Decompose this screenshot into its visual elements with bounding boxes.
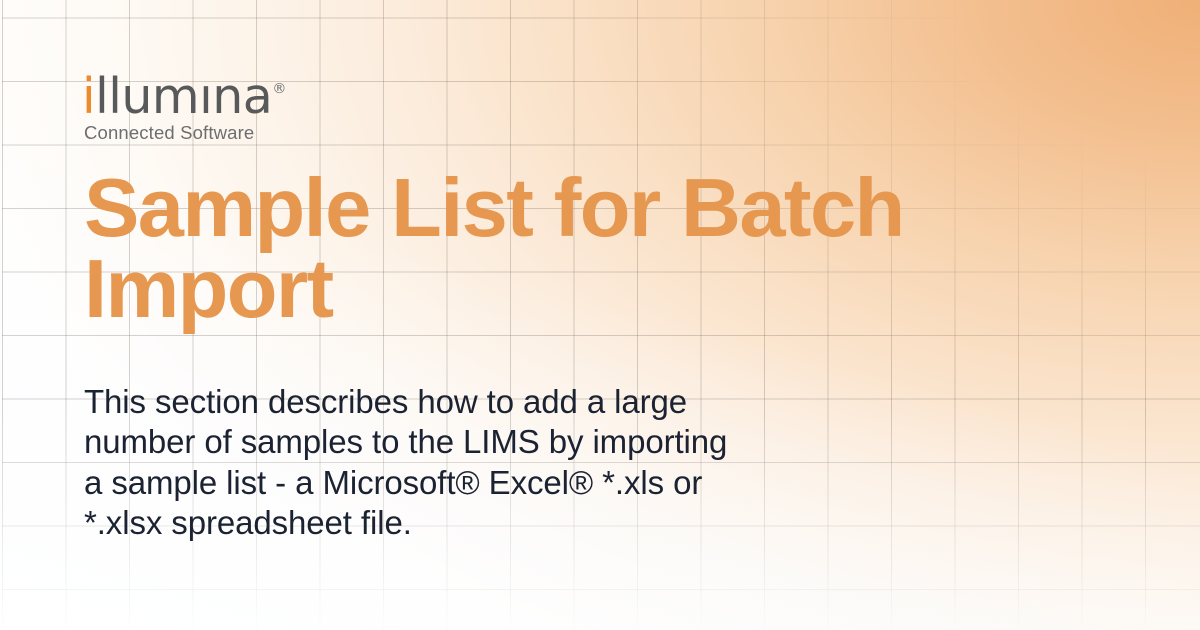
registered-trademark-icon: ® (272, 81, 286, 97)
hero-description: This section describes how to add a larg… (84, 382, 884, 543)
hero-banner: illumına® Connected Software Sample List… (0, 0, 1200, 630)
hero-content: illumına® Connected Software Sample List… (82, 0, 1092, 630)
logo-tagline: Connected Software (84, 122, 286, 144)
illumina-wordmark: illumına® (82, 74, 286, 119)
logo-initial-i: i (82, 68, 95, 125)
illumina-logo: illumına® Connected Software (82, 74, 286, 144)
page-title: Sample List for Batch Import (84, 168, 1064, 329)
logo-wordmark-rest: llumına (95, 68, 272, 125)
